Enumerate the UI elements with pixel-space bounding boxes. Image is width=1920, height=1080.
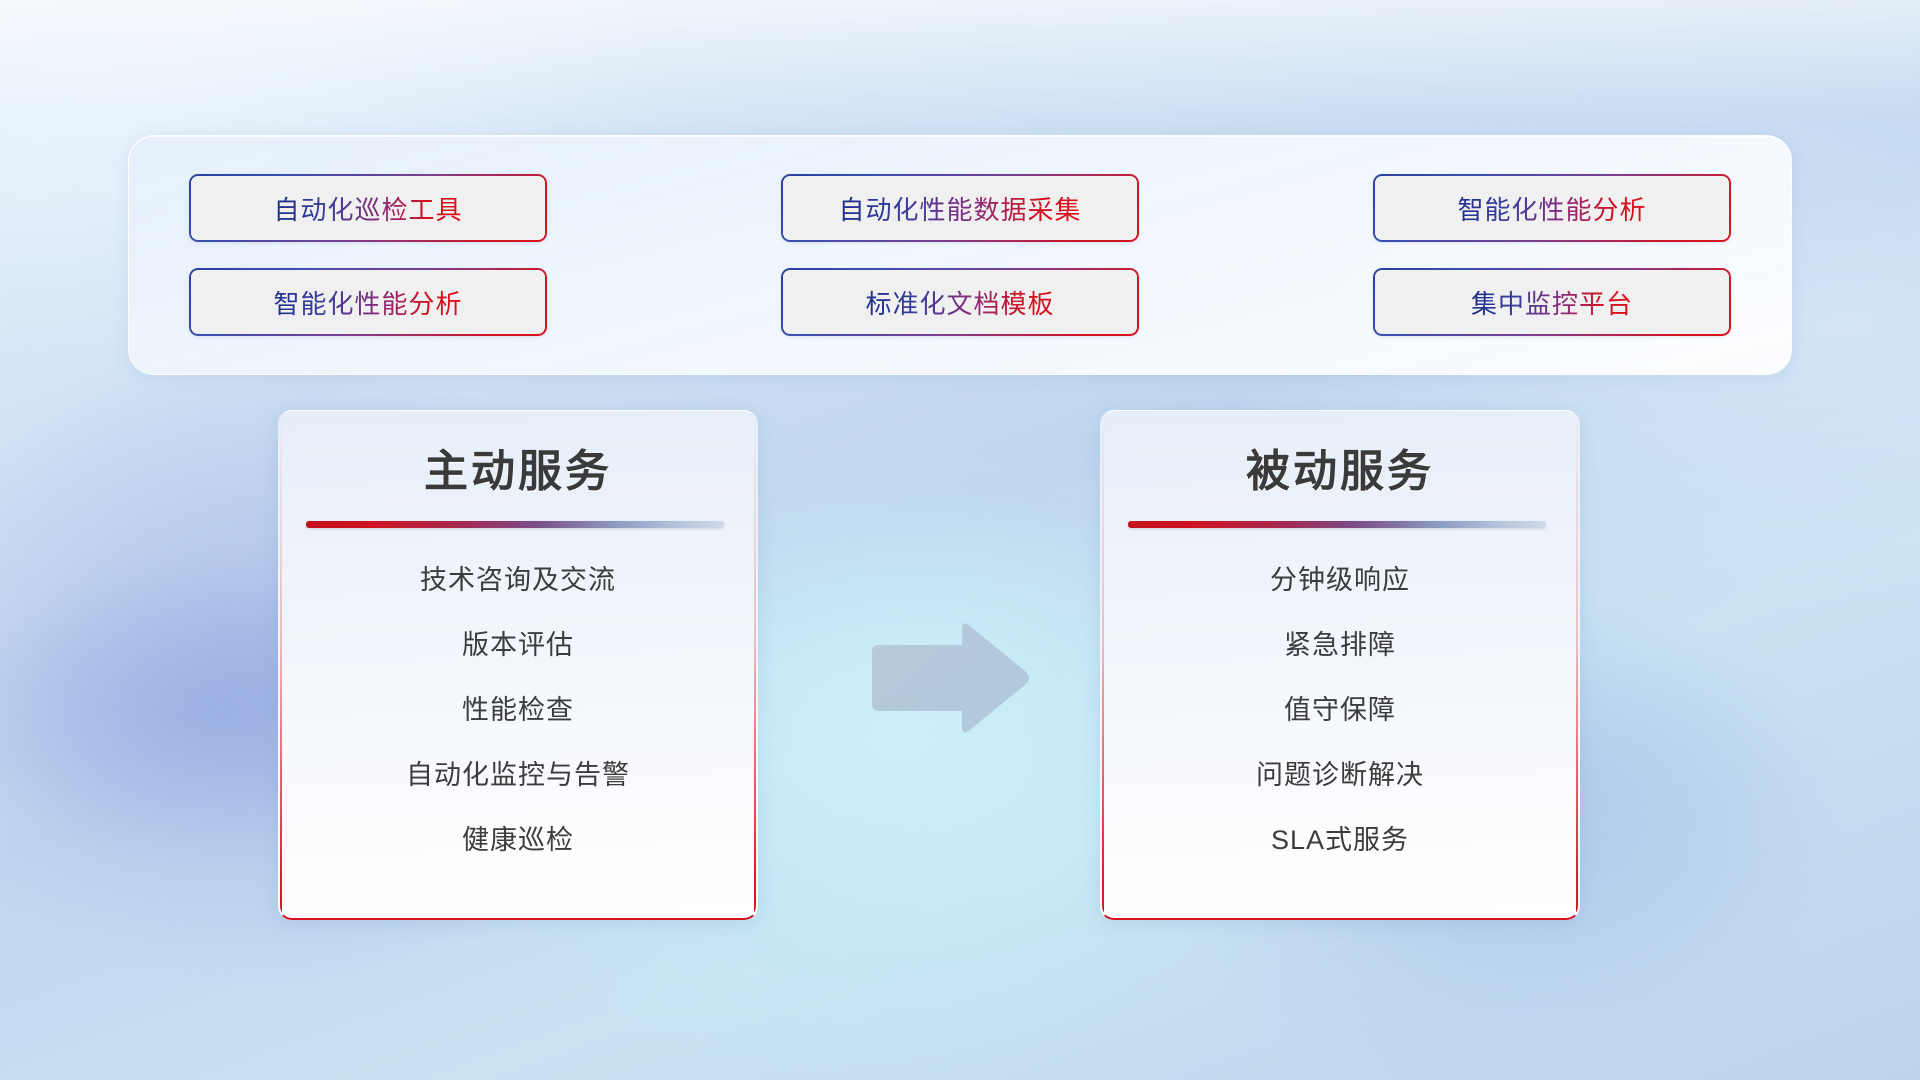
service-list-item: 版本评估 [462,623,574,662]
capability-tags-panel: 自动化巡检工具 自动化性能数据采集 智能化性能分析 智能化性能分析 标准化文档模… [128,135,1792,375]
card-title-divider [306,521,724,528]
capability-tag-label: 自动化性能数据采集 [838,190,1081,227]
card-left-edge [280,411,282,918]
capability-tag-label: 标准化文档模板 [865,284,1054,321]
card-title-divider [1128,521,1546,528]
service-card-proactive: 主动服务 技术咨询及交流 版本评估 性能检查 自动化监控与告警 健康巡检 [278,410,758,920]
service-list-item: 紧急排障 [1284,623,1396,662]
capability-tag-intelligent-performance-analysis-bottom[interactable]: 智能化性能分析 [189,268,547,336]
service-list-item: 分钟级响应 [1270,558,1410,597]
background-top-haze [0,0,1920,120]
service-list-item: 值守保障 [1284,688,1396,727]
capability-tag-intelligent-performance-analysis-top[interactable]: 智能化性能分析 [1373,174,1731,242]
tag-row-1: 自动化巡检工具 自动化性能数据采集 智能化性能分析 [189,174,1731,242]
service-list-item: 性能检查 [462,688,574,727]
card-title: 被动服务 [1102,435,1578,499]
capability-tag-automated-performance-data-collection[interactable]: 自动化性能数据采集 [781,174,1139,242]
card-left-edge [1102,411,1104,918]
capability-tag-label: 集中监控平台 [1471,284,1633,321]
capability-tag-automated-inspection-tool[interactable]: 自动化巡检工具 [189,174,547,242]
service-item-list: 技术咨询及交流 版本评估 性能检查 自动化监控与告警 健康巡检 [280,558,756,857]
card-right-edge [1576,411,1578,918]
capability-tag-standardized-document-template[interactable]: 标准化文档模板 [781,268,1139,336]
service-list-item: 技术咨询及交流 [420,558,616,597]
card-right-edge [754,411,756,918]
capability-tag-centralized-monitoring-platform[interactable]: 集中监控平台 [1373,268,1731,336]
flow-arrow-right-icon [866,620,1032,738]
service-card-reactive: 被动服务 分钟级响应 紧急排障 值守保障 问题诊断解决 SLA式服务 [1100,410,1580,920]
service-list-item: 问题诊断解决 [1256,753,1424,792]
capability-tag-label: 智能化性能分析 [273,284,462,321]
service-list-item: 自动化监控与告警 [406,753,630,792]
service-item-list: 分钟级响应 紧急排障 值守保障 问题诊断解决 SLA式服务 [1102,558,1578,857]
tag-row-2: 智能化性能分析 标准化文档模板 集中监控平台 [189,268,1731,336]
card-title: 主动服务 [280,435,756,499]
capability-tag-label: 自动化巡检工具 [273,190,462,227]
capability-tag-label: 智能化性能分析 [1457,190,1646,227]
service-list-item: SLA式服务 [1271,818,1409,857]
service-list-item: 健康巡检 [462,818,574,857]
